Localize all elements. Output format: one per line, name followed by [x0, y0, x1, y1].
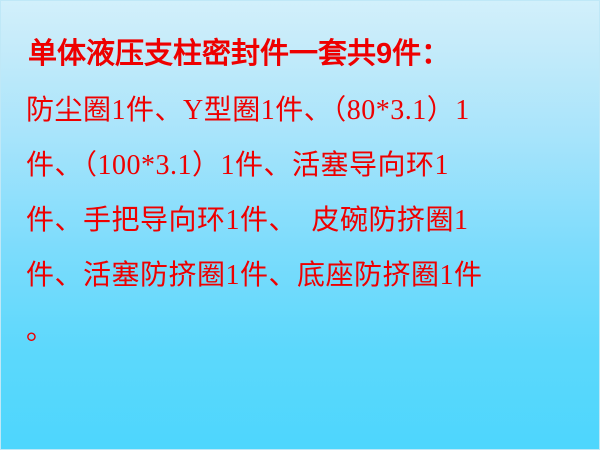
body-line-2: 件、（100*3.1）1件、活塞导向环1	[26, 138, 582, 193]
body-line-4: 件、活塞防挤圈1件、底座防挤圈1件	[26, 248, 582, 303]
body-line-1: 防尘圈1件、Y型圈1件、（80*3.1）1	[26, 83, 582, 138]
slide-title: 单体液压支柱密封件一套共9件：	[28, 28, 582, 81]
slide-canvas: 单体液压支柱密封件一套共9件： 防尘圈1件、Y型圈1件、（80*3.1）1 件、…	[0, 0, 600, 450]
body-line-3: 件、手把导向环1件、 皮碗防挤圈1	[26, 193, 582, 248]
body-line-5: 。	[26, 303, 582, 358]
slide-text-block: 单体液压支柱密封件一套共9件： 防尘圈1件、Y型圈1件、（80*3.1）1 件、…	[26, 28, 582, 358]
